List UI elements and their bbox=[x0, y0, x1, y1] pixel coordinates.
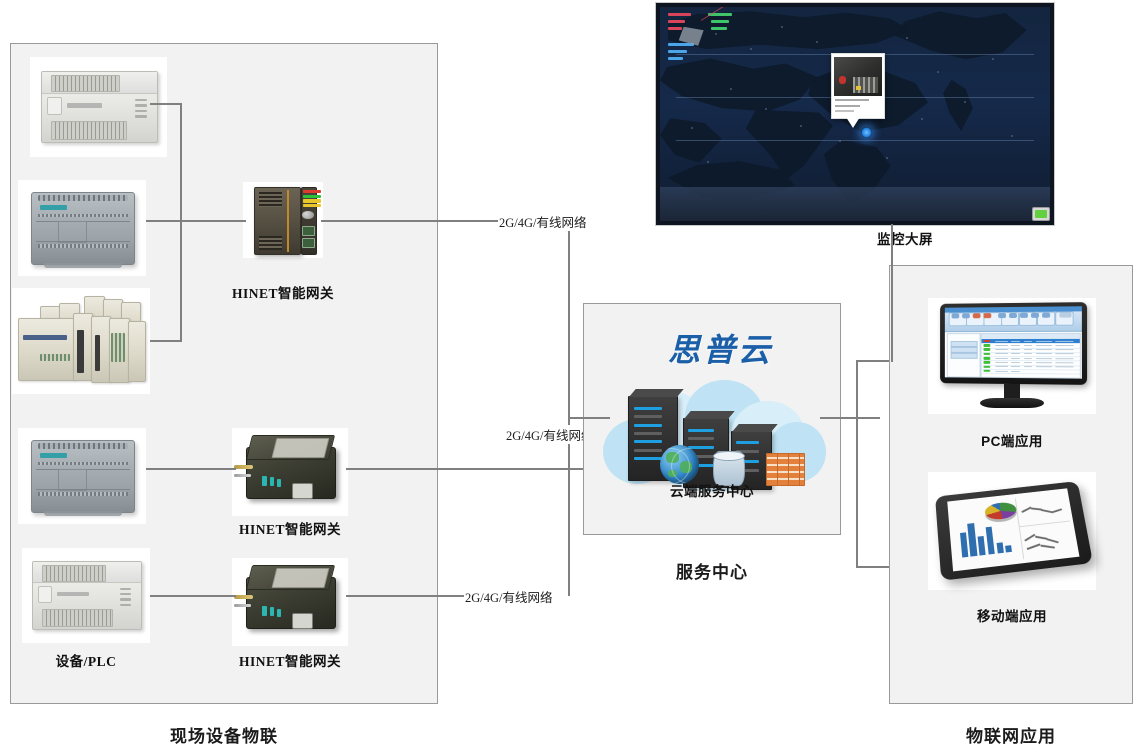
gateway-hinet-mid bbox=[232, 428, 348, 516]
link-apps-to-pc bbox=[856, 362, 858, 364]
link-gateway-bottom-out bbox=[346, 595, 466, 597]
wan-label-top: 2G/4G/有线网络 bbox=[498, 212, 588, 231]
gateway-hinet-top bbox=[243, 182, 323, 258]
app-caption-mobile: 移动端应用 bbox=[932, 605, 1092, 625]
app-caption-pc: PC端应用 bbox=[932, 430, 1092, 450]
globe-icon bbox=[660, 445, 699, 484]
link-plc-top bbox=[150, 103, 182, 105]
screen-status-badge bbox=[1032, 207, 1050, 221]
plc-mitsubishi-bottom bbox=[22, 548, 150, 643]
plc-modular-rack bbox=[12, 288, 150, 394]
link-gateway-mid-out bbox=[346, 468, 586, 470]
map-device-marker[interactable] bbox=[861, 127, 872, 138]
map-device-popup[interactable] bbox=[831, 53, 886, 119]
link-plc-modular bbox=[150, 340, 182, 342]
device-caption-plc: 设备/PLC bbox=[12, 650, 160, 670]
link-plc-siemens-top bbox=[146, 220, 246, 222]
map-hud-widget bbox=[668, 12, 746, 68]
map-popup-tail bbox=[846, 117, 860, 128]
link-plc-top-drop bbox=[180, 103, 182, 220]
wan-trunk bbox=[568, 220, 570, 596]
link-apps-to-screenwall bbox=[856, 360, 892, 362]
device-caption-gateway-mid: HINET智能网关 bbox=[210, 518, 370, 538]
plc-mitsubishi-top bbox=[30, 57, 167, 157]
wan-label-middle: 2G/4G/有线网络 bbox=[505, 425, 595, 444]
device-caption-gateway-top: HINET智能网关 bbox=[203, 282, 363, 302]
app-caption-screen-wall: 监控大屏 bbox=[825, 228, 985, 248]
plc-siemens-mid bbox=[18, 428, 146, 524]
mobile-application-tablet bbox=[928, 472, 1096, 590]
apps-trunk bbox=[856, 360, 858, 568]
link-plc-modular-rise bbox=[180, 220, 182, 340]
plc-siemens-top bbox=[18, 180, 146, 276]
diagram-canvas: 现场设备物联 bbox=[0, 0, 1143, 752]
link-apps-to-mobile bbox=[856, 566, 892, 568]
device-caption-gateway-bottom: HINET智能网关 bbox=[210, 650, 370, 670]
link-plc-siemens-mid bbox=[146, 468, 236, 470]
panel-service-center-caption: 服务中心 bbox=[583, 558, 841, 583]
link-screenwall-drop bbox=[891, 224, 893, 362]
pc-application-monitor bbox=[928, 298, 1096, 414]
panel-iot-apps-caption: 物联网应用 bbox=[889, 722, 1133, 747]
link-plc-bottom bbox=[150, 595, 236, 597]
cloud-center-caption: 云端服务中心 bbox=[632, 480, 792, 500]
monitoring-screen-wall bbox=[655, 2, 1055, 226]
link-trunk-to-cloud bbox=[568, 417, 610, 419]
gateway-hinet-bottom bbox=[232, 558, 348, 646]
link-cloud-to-apps bbox=[820, 417, 880, 419]
panel-field-devices-caption: 现场设备物联 bbox=[10, 722, 438, 747]
cloud-logo-text: 思普云 bbox=[668, 325, 773, 371]
wan-label-bottom: 2G/4G/有线网络 bbox=[464, 587, 554, 606]
